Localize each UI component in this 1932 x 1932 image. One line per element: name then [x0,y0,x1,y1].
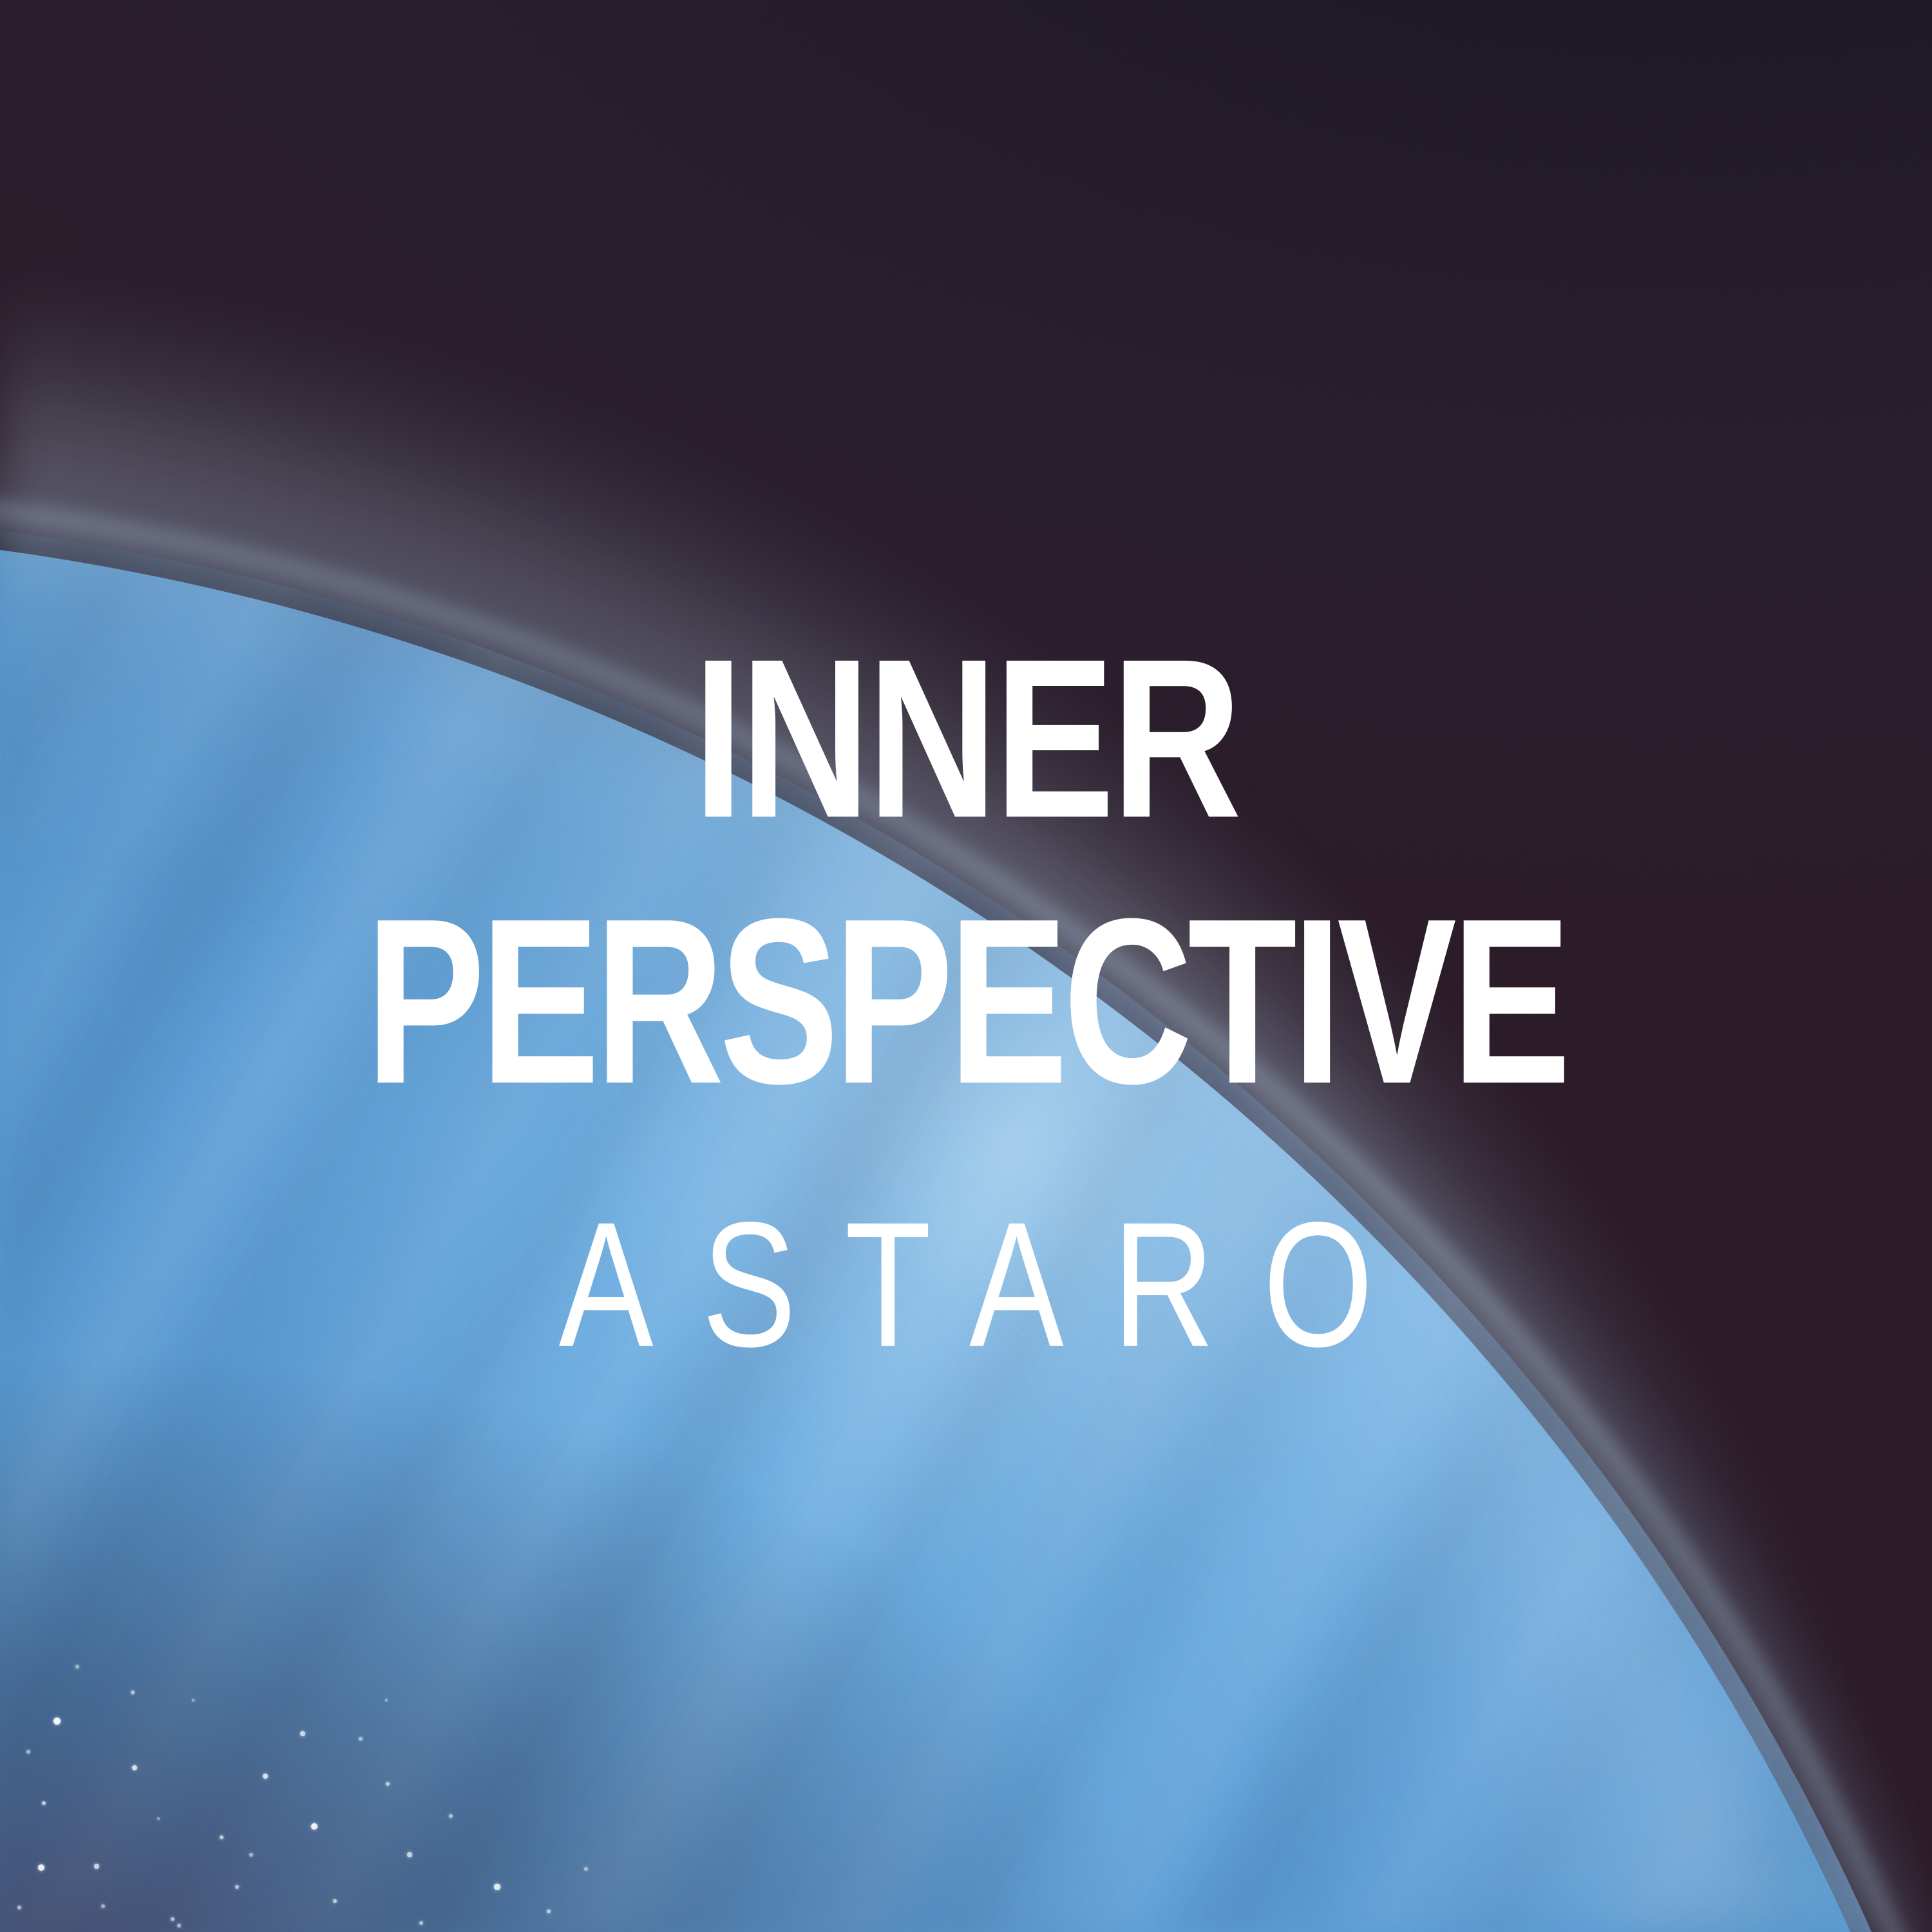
cover-typography: INNER PERSPECTIVE ASTARO [0,0,1932,1932]
album-title-line-2: PERSPECTIVE [232,900,1700,1103]
artist-name: ASTARO [174,1195,1758,1373]
album-title-line-1: INNER [198,641,1734,836]
album-cover-artwork: INNER PERSPECTIVE ASTARO [0,0,1932,1932]
